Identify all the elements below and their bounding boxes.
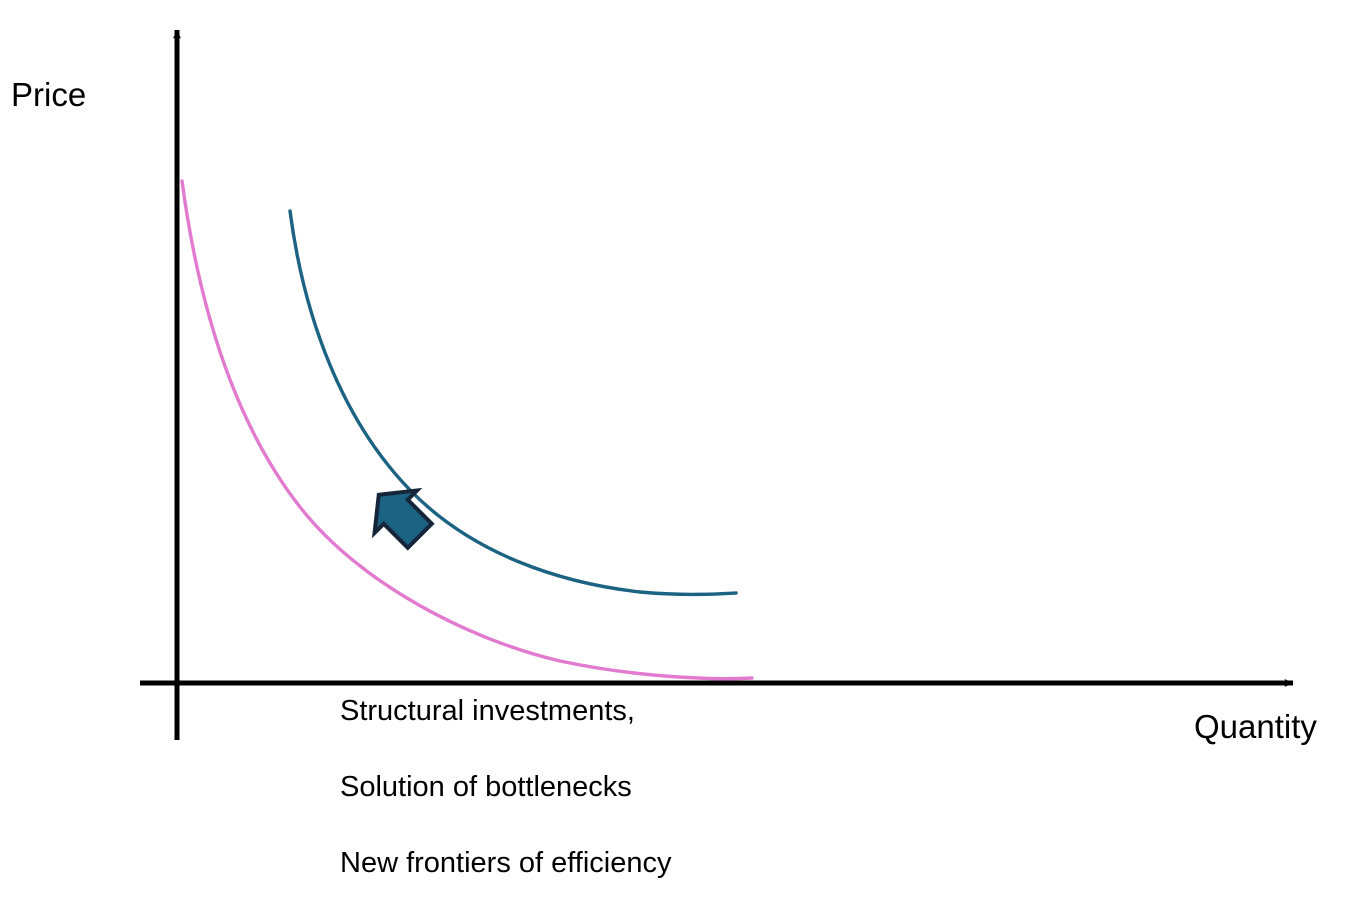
curve-original-supply (290, 211, 736, 594)
curve-shifted-supply (182, 181, 752, 679)
x-axis-label: Quantity (1194, 710, 1317, 743)
y-axis-label: Price (11, 78, 86, 111)
diagram-canvas: Price Quantity Structural investments, S… (0, 0, 1357, 901)
annotation-line-1: Structural investments, (340, 697, 1040, 726)
annotation-line-3: New frontiers of efficiency (340, 849, 1040, 878)
annotation-line-2: Solution of bottlenecks (340, 773, 1040, 802)
annotation-block: Structural investments, Solution of bott… (340, 697, 1040, 878)
down-left-arrow-icon (358, 474, 441, 557)
